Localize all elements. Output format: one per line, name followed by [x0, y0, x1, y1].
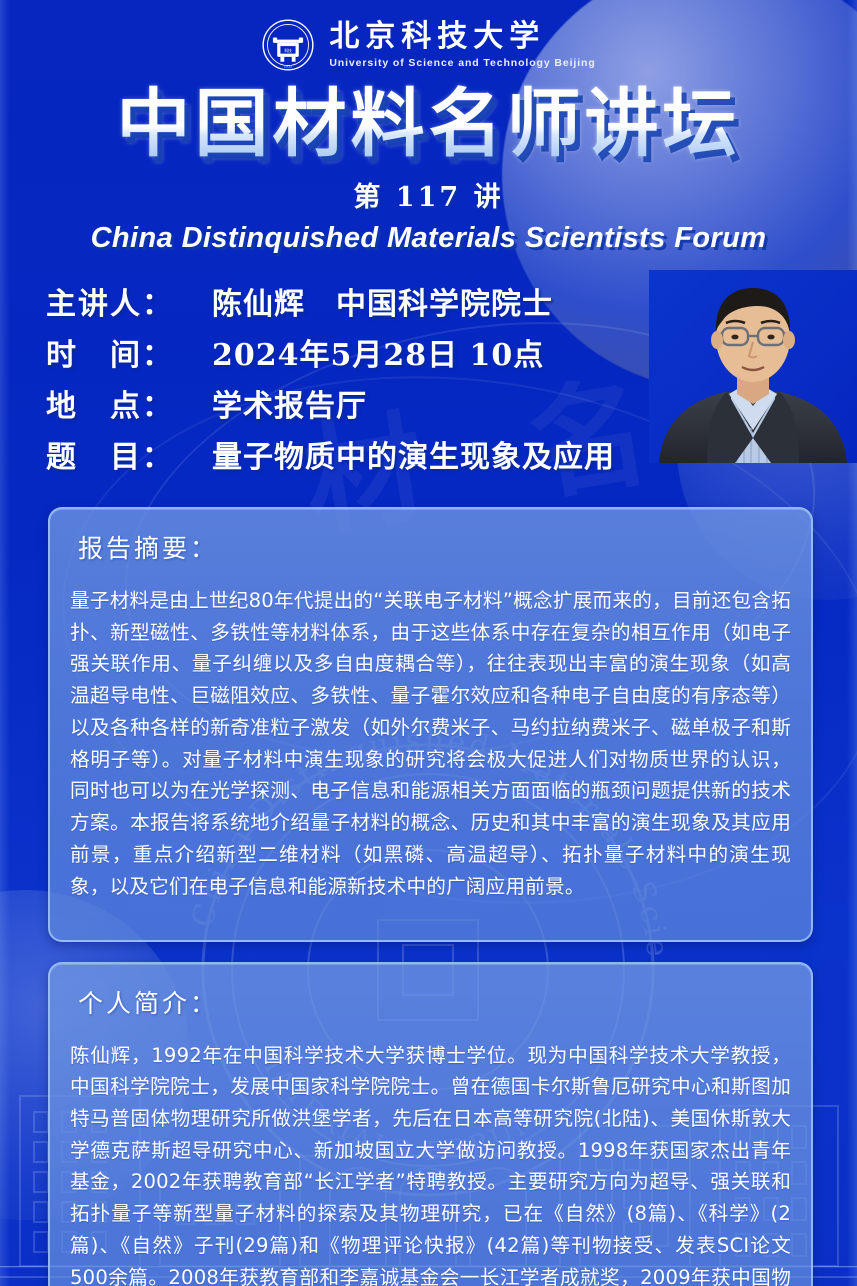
info-label-time: 时 间：: [46, 330, 212, 374]
university-header: 科技 1952 北京科技大学 University of Science and…: [0, 0, 857, 72]
info-value-location: 学术报告厅: [212, 381, 367, 425]
session-number: 第 117 讲: [0, 175, 857, 214]
abstract-card: 报告摘要： 量子材料是由上世纪80年代提出的“关联电子材料”概念扩展而来的，目前…: [48, 507, 813, 942]
poster-root: 材 名 师 China Distinguished Materials Scie…: [0, 0, 857, 1286]
bio-heading: 个人简介：: [78, 984, 791, 1020]
title-block: 中国材料名师讲坛 第 117 讲 China Distinquished Mat…: [0, 84, 857, 255]
university-name-en: University of Science and Technology Bei…: [329, 57, 595, 69]
info-label-speaker: 主讲人：: [46, 279, 212, 323]
speaker-portrait: [649, 270, 857, 463]
university-name-cn: 北京科技大学: [329, 21, 595, 53]
info-label-topic: 题 目：: [46, 432, 212, 476]
event-info-block: 主讲人： 陈仙辉 中国科学院院士 时 间： 2024年5月28日 10点 地 点…: [0, 275, 857, 491]
svg-text:1952: 1952: [284, 65, 292, 69]
info-label-location: 地 点：: [46, 381, 212, 425]
bio-text: 陈仙辉，1992年在中国科学技术大学获博士学位。现为中国科学技术大学教授，中国科…: [70, 1040, 791, 1286]
forum-title-cn: 中国材料名师讲坛: [117, 84, 741, 165]
abstract-text: 量子材料是由上世纪80年代提出的“关联电子材料”概念扩展而来的，目前还包含拓扑、…: [70, 585, 791, 902]
info-value-topic: 量子物质中的演生现象及应用: [212, 432, 615, 476]
info-value-speaker: 陈仙辉 中国科学院院士: [212, 279, 553, 323]
bio-card: 个人简介： 陈仙辉，1992年在中国科学技术大学获博士学位。现为中国科学技术大学…: [48, 962, 813, 1286]
ustb-emblem-icon: 科技 1952: [261, 18, 315, 72]
svg-text:科技: 科技: [285, 48, 293, 53]
forum-title-en: China Distinquished Materials Scientists…: [0, 222, 857, 255]
abstract-heading: 报告摘要：: [78, 529, 791, 565]
info-value-time: 2024年5月28日 10点: [212, 330, 544, 374]
